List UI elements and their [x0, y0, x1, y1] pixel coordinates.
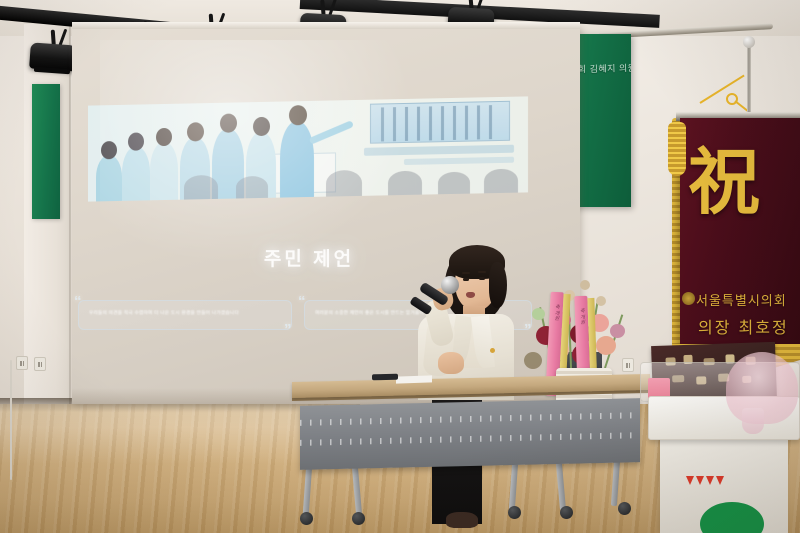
flag-pole-finial	[743, 36, 755, 48]
screen-top-rail	[72, 22, 580, 29]
flag-cord-ring	[726, 93, 738, 105]
quote-text: 우리들의 의견을 적극 수렴하여 더 나은 도시 환경을 만들어 나가겠습니다	[89, 310, 281, 316]
wrapped-bouquet-stem	[742, 408, 764, 434]
phone-on-table	[372, 374, 398, 381]
microphone-icon	[441, 276, 459, 294]
table-caster	[560, 506, 573, 519]
flag-character: 祝	[688, 146, 798, 218]
ceremonial-flag: 祝 서울특별시의회 의장 최호정	[680, 118, 800, 353]
wall-outlet	[622, 358, 634, 372]
building-illustration	[370, 101, 510, 144]
flag-tassel	[668, 122, 686, 176]
green-banner-left	[32, 84, 60, 219]
speaker-hair-side	[489, 262, 507, 308]
flag-line-1: 서울특별시의회	[696, 290, 800, 309]
quote-open-icon: “	[298, 294, 306, 309]
wall-outlet	[16, 356, 28, 370]
table-caster	[352, 512, 365, 525]
ribbon-text: 축 개원	[578, 308, 586, 325]
table-modesty-panel	[300, 398, 640, 470]
ribbon-text: 축 개원	[552, 304, 560, 321]
table-caster	[300, 512, 313, 525]
photo-scene: 별시의회 김혜지 의원	[0, 0, 800, 533]
wall-outlet	[34, 357, 46, 371]
wall-seam	[69, 24, 71, 424]
lapel-pin-icon	[490, 348, 495, 353]
quote-box: 우리들의 의견을 적극 수렴하여 더 나은 도시 환경을 만들어 나가겠습니다	[78, 300, 292, 330]
table-caster	[618, 502, 631, 515]
speaker-mouth	[466, 292, 475, 298]
power-cable	[10, 360, 12, 480]
slide-bar-1	[364, 145, 514, 156]
podium-decor-triangles	[686, 476, 730, 486]
crowd-illustration	[88, 96, 528, 201]
quote-close-icon: ”	[284, 322, 292, 337]
speaker-shoe	[446, 512, 478, 528]
paper-on-table	[396, 375, 432, 383]
spotlight-icon	[29, 36, 77, 75]
speaker-hand-lower	[438, 352, 464, 374]
slide-bar-2	[404, 157, 514, 165]
table-caster	[508, 506, 521, 519]
flag-line-2: 의장 최호정	[698, 314, 800, 338]
flag-seal-icon	[682, 292, 695, 305]
quote-open-icon: “	[74, 294, 82, 309]
